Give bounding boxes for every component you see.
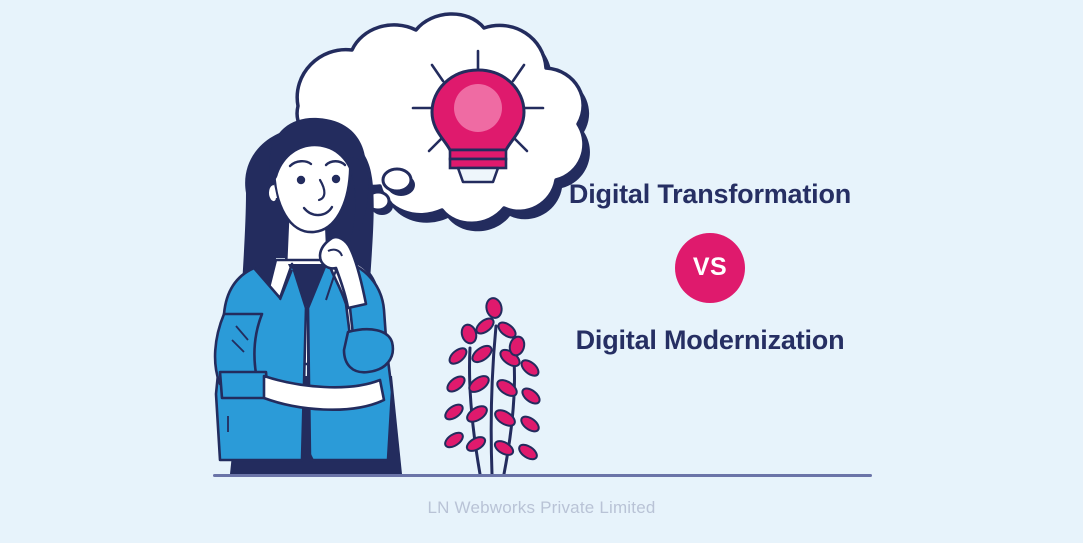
vs-badge: VS	[675, 233, 745, 303]
banner-root: Digital Transformation VS Digital Modern…	[0, 0, 1083, 543]
headline-bottom: Digital Modernization	[520, 326, 900, 356]
ground-line	[213, 474, 872, 477]
vs-badge-label: VS	[693, 255, 727, 280]
footer-attribution: LN Webworks Private Limited	[427, 498, 655, 517]
headline-block: Digital Transformation VS Digital Modern…	[520, 180, 900, 355]
footer: LN Webworks Private Limited	[0, 498, 1083, 518]
headline-top: Digital Transformation	[520, 180, 900, 210]
